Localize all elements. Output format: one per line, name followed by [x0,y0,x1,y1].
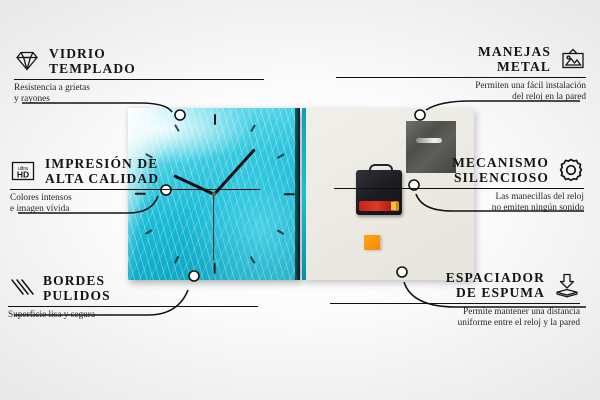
feature-header: VIDRIO TEMPLADO [14,46,264,76]
feature-vidrio-templado: VIDRIO TEMPLADO Resistencia a grietas y … [14,46,264,106]
feature-title: MANEJAS METAL [478,44,551,74]
feature-mecanismo-silencioso: MECANISMO SILENCIOSO Las manecillas del … [334,155,584,215]
feature-header: MANEJAS METAL [336,44,586,74]
feature-description: Resistencia a grietas y rayones [14,83,264,106]
feature-title: IMPRESIÓN DE ALTA CALIDAD [45,156,159,186]
foam-spacer [364,235,380,250]
feature-description: Colores intensos e imagen vívida [10,193,260,216]
foam-spacer-icon [554,272,580,298]
panel-edge-strip [302,108,306,280]
svg-text:HD: HD [17,170,29,180]
feature-header: MECANISMO SILENCIOSO [334,155,584,185]
feature-rule [10,189,260,190]
feature-rule [14,79,264,80]
feature-rule [8,306,258,307]
feature-header: ultra HD IMPRESIÓN DE ALTA CALIDAD [10,156,260,186]
feature-manejas-metal: MANEJAS METAL Permiten una fácil instala… [336,44,586,104]
feature-rule [334,188,584,189]
diamond-icon [14,48,40,74]
feature-title: ESPACIADOR DE ESPUMA [446,270,545,300]
feature-impresion-alta-calidad: ultra HD IMPRESIÓN DE ALTA CALIDAD Color… [10,156,260,216]
hanger-slot [416,138,442,143]
feature-description: Permiten una fácil instalación del reloj… [336,81,586,104]
feature-header: ESPACIADOR DE ESPUMA [330,270,580,300]
feature-espaciador-espuma: ESPACIADOR DE ESPUMA Permite mantener un… [330,270,580,330]
feature-title: VIDRIO TEMPLADO [49,46,136,76]
feature-title: BORDES PULIDOS [43,273,111,303]
ultra-hd-icon: ultra HD [10,158,36,184]
feature-rule [336,77,586,78]
feature-description: Permite mantener una distancia uniforme … [330,307,580,330]
feature-bordes-pulidos: BORDES PULIDOS Superficie lisa y segura [8,273,258,321]
feature-description: Superficie lisa y segura [8,310,258,321]
polished-edges-icon [8,275,34,301]
feature-title: MECANISMO SILENCIOSO [452,155,549,185]
picture-hanger-icon [560,46,586,72]
clock-tick [214,114,216,125]
gear-icon [558,157,584,183]
infographic-canvas: VIDRIO TEMPLADO Resistencia a grietas y … [0,0,600,400]
clock-side-edge [295,108,300,280]
feature-rule [330,303,580,304]
feature-header: BORDES PULIDOS [8,273,258,303]
feature-description: Las manecillas del reloj no emiten ningú… [334,192,584,215]
clock-tick [284,193,295,195]
